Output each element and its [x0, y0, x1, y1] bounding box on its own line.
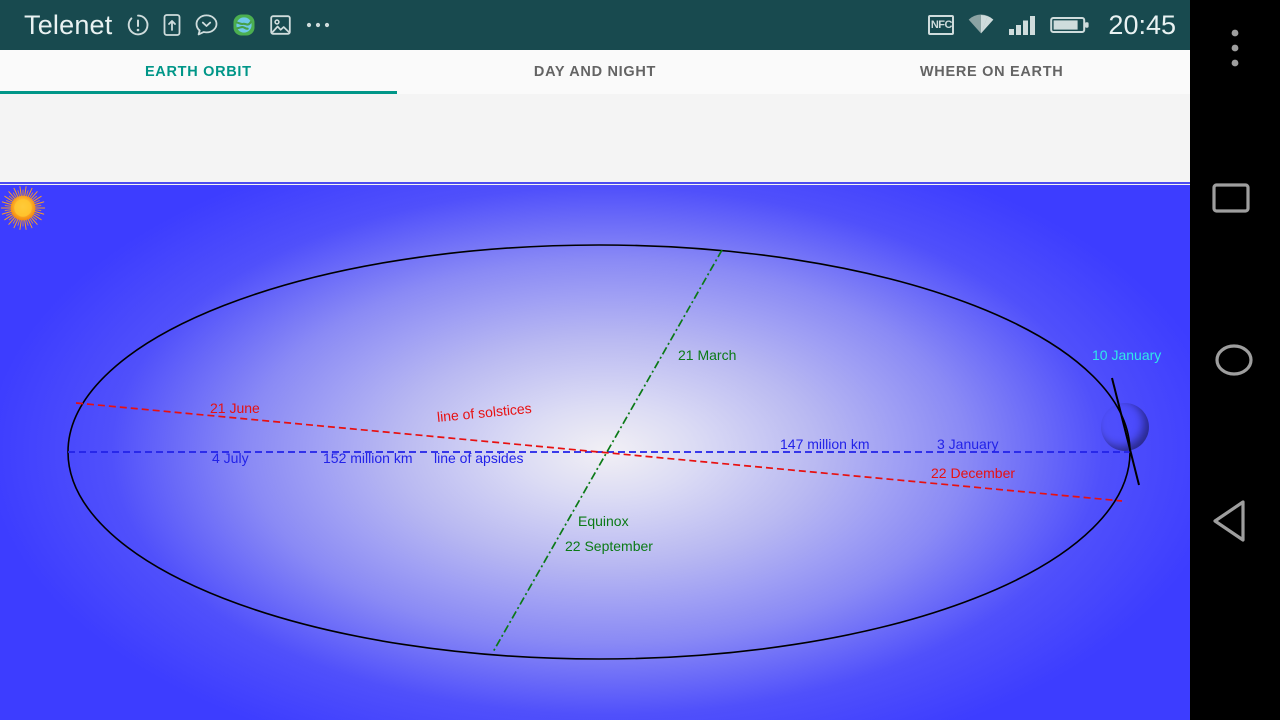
label-aphelion-date: 4 July: [212, 450, 249, 466]
tab-day-and-night[interactable]: DAY AND NIGHT: [397, 50, 794, 94]
wifi-icon: [966, 13, 996, 37]
label-perihelion-distance: 147 million km: [780, 436, 869, 452]
label-line-of-apsides: line of apsides: [434, 450, 524, 466]
status-system-icons: NFC 20:45: [928, 10, 1176, 41]
tab-bar: EARTH ORBIT DAY AND NIGHT WHERE ON EARTH: [0, 50, 1190, 94]
back-icon[interactable]: [1210, 498, 1258, 544]
label-june-solstice: 21 June: [210, 400, 260, 416]
recents-icon[interactable]: [1212, 183, 1258, 219]
label-march-equinox: 21 March: [678, 347, 736, 363]
earth-orbit-diagram[interactable]: 21 June line of solstices 22 December 4 …: [0, 185, 1190, 720]
home-icon[interactable]: [1210, 340, 1260, 382]
label-aphelion-distance: 152 million km: [323, 450, 412, 466]
earth-globe[interactable]: [1101, 403, 1149, 451]
message-icon: [194, 13, 219, 37]
warning-circle-icon: [126, 13, 150, 37]
orbit-graphics: [0, 185, 1190, 720]
earth-app-icon: [232, 13, 256, 37]
image-icon: [269, 13, 292, 37]
label-equinox: Equinox: [578, 513, 629, 529]
equinox-line: [493, 250, 722, 652]
sim-card-icon: [163, 13, 181, 37]
signal-icon: [1008, 13, 1038, 37]
battery-icon: [1050, 14, 1090, 36]
app-viewport: Telenet: [0, 0, 1190, 720]
android-navigation-bar: [1190, 0, 1280, 720]
label-current-date: 10 January: [1092, 347, 1161, 363]
screen: Telenet: [0, 0, 1280, 720]
nfc-icon: NFC: [928, 15, 954, 35]
sun-icon: [0, 185, 46, 231]
overflow-menu-icon[interactable]: [1220, 26, 1250, 78]
controls-panel: Show moving date Earth rotation speed Ea…: [0, 94, 1190, 184]
more-icon: [305, 20, 331, 30]
carrier-label: Telenet: [24, 10, 112, 41]
clock-label: 20:45: [1108, 10, 1176, 41]
status-bar: Telenet: [0, 0, 1190, 50]
status-notification-icons: [126, 13, 331, 37]
tab-earth-orbit[interactable]: EARTH ORBIT: [0, 50, 397, 94]
tab-where-on-earth[interactable]: WHERE ON EARTH: [793, 50, 1190, 94]
label-perihelion-date: 3 January: [937, 436, 998, 452]
label-december-solstice: 22 December: [931, 465, 1015, 481]
label-september-equinox: 22 September: [565, 538, 653, 554]
